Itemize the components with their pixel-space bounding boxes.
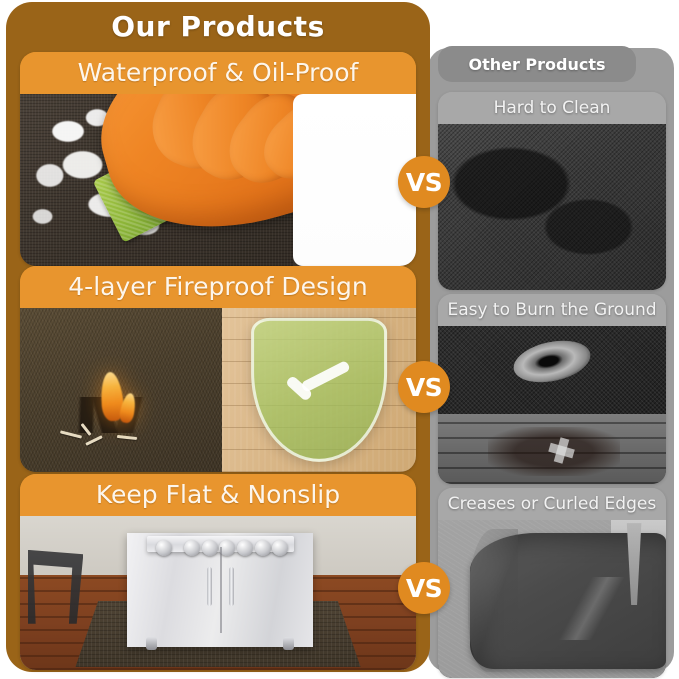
- feature-label: Keep Flat & Nonslip: [20, 474, 416, 516]
- match-stick: [117, 435, 137, 440]
- grill-scene: [20, 516, 416, 670]
- vs-badge: VS: [398, 562, 450, 614]
- burn-damage-photo: [438, 326, 666, 484]
- grill-caster-wheel: [283, 637, 294, 650]
- other-products-panel: Other Products Hard to Clean Easy to Bur…: [428, 48, 674, 672]
- feature-card-nonslip: Keep Flat & Nonslip: [20, 474, 416, 670]
- burner-knob: [202, 540, 218, 556]
- grill-caster-wheel: [146, 637, 157, 650]
- other-products-title: Other Products: [438, 46, 636, 82]
- burn-hole-icon: [510, 334, 594, 388]
- drawback-label: Easy to Burn the Ground: [438, 294, 666, 326]
- fireproof-photo: [20, 308, 416, 472]
- drawback-card-easy-to-burn: Easy to Burn the Ground: [438, 294, 666, 484]
- match-stick: [85, 436, 103, 447]
- cabinet-door-split: [220, 547, 222, 634]
- wood-deck-with-shield: [222, 308, 416, 472]
- infographic-root: Other Products Hard to Clean Easy to Bur…: [0, 0, 679, 679]
- burner-knob: [255, 540, 271, 556]
- feature-card-fireproof: 4-layer Fireproof Design: [20, 266, 416, 472]
- concrete-ground: [438, 520, 666, 678]
- protection-shield: [251, 318, 387, 462]
- shield-icon: [251, 318, 387, 462]
- crease-line: [529, 577, 661, 640]
- feature-label: Waterproof & Oil-Proof: [20, 52, 416, 94]
- curled-mat-photo: [438, 520, 666, 678]
- cleaning-photo: [20, 94, 416, 266]
- grill-photo: [20, 516, 416, 670]
- our-products-panel: Our Products Waterproof & Oil-Proof: [6, 2, 430, 672]
- drawback-label: Creases or Curled Edges: [438, 488, 666, 520]
- fireproof-scene: [20, 308, 416, 472]
- feature-label: 4-layer Fireproof Design: [20, 266, 416, 308]
- vs-badge: VS: [398, 361, 450, 413]
- burner-knob: [237, 540, 253, 556]
- checkmark-icon: [280, 357, 358, 415]
- burner-knob: [184, 540, 200, 556]
- stainless-grill: [127, 533, 313, 647]
- fireproof-mat-with-flame: [20, 308, 222, 472]
- vs-badge: VS: [398, 156, 450, 208]
- feature-card-waterproof: Waterproof & Oil-Proof: [20, 52, 416, 266]
- burner-knob: [156, 540, 172, 556]
- page-title: Our Products: [6, 10, 430, 43]
- cabinet-handle: [207, 567, 212, 606]
- cross-mark-icon: [538, 438, 584, 463]
- burned-mat-surface: [438, 326, 666, 414]
- dirty-mat-texture: [438, 124, 666, 290]
- scorched-deck: [438, 414, 666, 484]
- drawback-card-creases: Creases or Curled Edges: [438, 488, 666, 678]
- drawback-card-hard-to-clean: Hard to Clean: [438, 92, 666, 290]
- dirty-mat-photo: [438, 124, 666, 290]
- drawback-label: Hard to Clean: [438, 92, 666, 124]
- cabinet-handle: [229, 567, 234, 606]
- burner-knob: [272, 540, 288, 556]
- curled-edge: [468, 529, 518, 671]
- cleaning-scene: [20, 94, 416, 266]
